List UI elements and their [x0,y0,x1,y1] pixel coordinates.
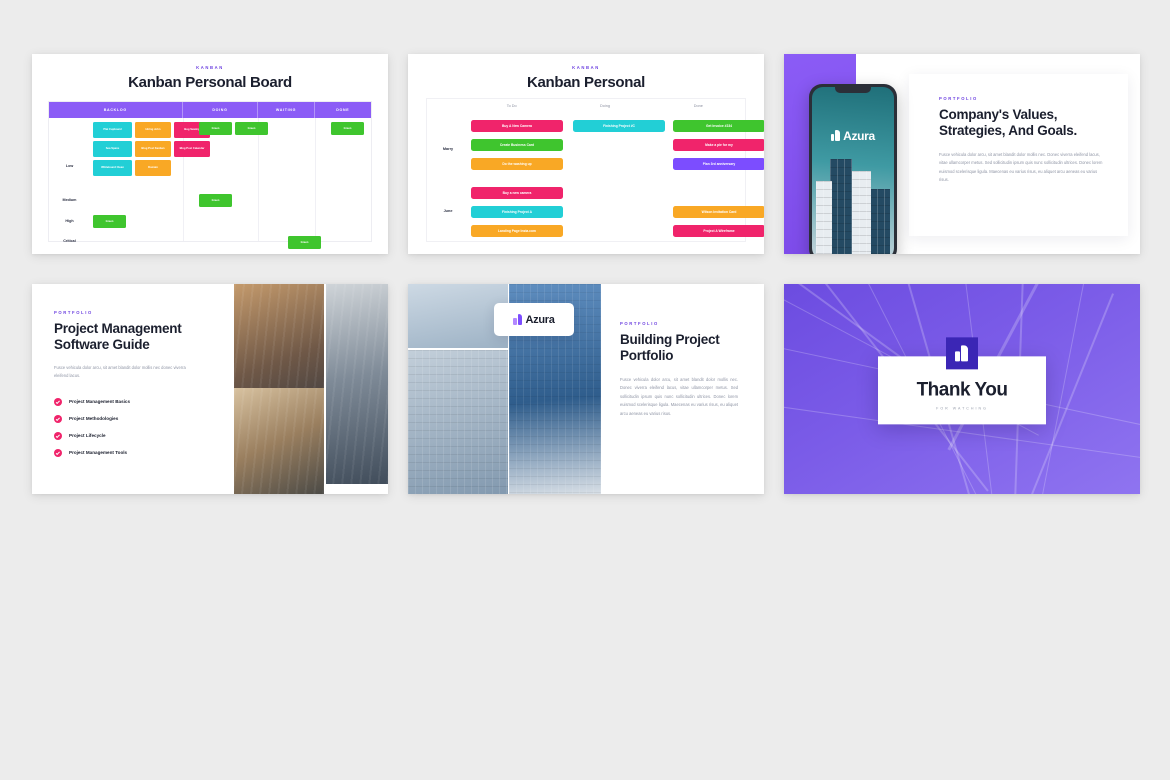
slide2-header: KANBAN Kanban Personal [408,54,764,91]
slide-company-values[interactable]: PORTFOLIO Company's Values, Strategies, … [784,54,1140,254]
list-item[interactable]: Project Management Basics [54,398,232,406]
row-label-marry: Marry [431,147,465,151]
slide4-body: Fusce vehicula dolor arcu, sit amet blan… [54,364,186,381]
column-divider [258,118,259,241]
azura-logo-icon [513,314,522,325]
kanban2-column-headers: To Do Doing Done [427,99,745,111]
kanban-card[interactable]: Make a pie for my [673,139,764,151]
kanban-card[interactable]: Finishing Project #C [573,120,665,132]
kanban-card[interactable]: Green [199,122,232,135]
list-item[interactable]: Project Methodologies [54,415,232,423]
list-item[interactable]: Project Lifecycle [54,432,232,440]
content-card: PORTFOLIO Company's Values, Strategies, … [909,74,1128,236]
azura-logo: Azura [812,129,894,143]
kanban-card[interactable]: Blog Post Calendar [174,141,210,157]
feature-list: Project Management Basics Project Method… [54,398,232,457]
phone-notch [835,87,871,93]
slide3-body: Fusce vehicula dolor arcu, sit amet blan… [939,151,1106,185]
building-shape [830,159,852,254]
slide5-body: Fusce vehicula dolor arcu, sit amet blan… [620,376,738,418]
kanban-board-body: Low Medium High Critical Plat Cupboard H… [49,118,371,241]
kanban-card[interactable]: Whiteboard Clean [93,160,132,176]
kanban-card[interactable]: Blog Post Kanban [135,141,171,157]
list-item-label: Project Lifecycle [69,433,106,438]
sky-photo [408,284,508,348]
kanban-card[interactable]: Finishing Project A [471,206,563,218]
kanban-card[interactable]: Green [235,122,268,135]
slide3-title: Company's Values, Strategies, And Goals. [939,107,1089,140]
check-circle-icon [54,432,62,440]
column-divider [315,118,316,241]
kanban-column-headers: BACKLOG DOING WAITING DONE [49,102,371,118]
thank-you-subtitle: FOR WATCHING [936,406,988,410]
kanban-board: BACKLOG DOING WAITING DONE Low Medium Hi… [48,101,372,242]
slide4-eyebrow: PORTFOLIO [54,310,232,315]
azura-logo-icon [955,345,969,361]
slide-building-portfolio[interactable]: Azura PORTFOLIO Building Project Portfol… [408,284,764,494]
check-circle-icon [54,449,62,457]
column-header-done: Done [652,104,745,108]
kanban-card[interactable]: Green [93,215,126,228]
row-label-high: High [49,219,90,223]
kanban-card[interactable]: Create Business Card [471,139,563,151]
slide-pm-software-guide[interactable]: PORTFOLIO Project Management Software Gu… [32,284,388,494]
kanban-card[interactable]: Project A Wireframe [673,225,764,237]
slide1-eyebrow: KANBAN [32,65,388,70]
kanban-card[interactable]: Plat Cupboard [93,122,132,138]
slide5-text-column: PORTFOLIO Building Project Portfolio Fus… [620,321,746,418]
row-label-medium: Medium [49,198,90,202]
list-item[interactable]: Project Management Tools [54,449,232,457]
column-header-backlog: BACKLOG [49,102,183,118]
check-circle-icon [54,415,62,423]
desk-photo-bottom [234,388,324,494]
phone-mockup: Azura [809,84,897,254]
slide3-eyebrow: PORTFOLIO [939,96,1106,101]
kanban-card[interactable]: Get Invoice #234 [673,120,764,132]
slide4-text-column: PORTFOLIO Project Management Software Gu… [32,284,232,494]
kanban-card[interactable]: Green [288,236,321,249]
column-header-doing: Doing [558,104,651,108]
kanban-card[interactable]: Plan 3rd anniversary [673,158,764,170]
row-label-low: Low [49,164,90,168]
column-header-waiting: WAITING [258,102,314,118]
kanban-card[interactable]: Do the washing up [471,158,563,170]
building-photo-left [408,350,508,494]
building-shape [870,189,890,254]
kanban-card[interactable]: Hiring John [135,122,171,138]
kanban-card[interactable]: Landing Page Insta.com [471,225,563,237]
azura-logo-text: Azura [525,314,554,326]
column-header-todo: To Do [465,104,558,108]
slide-thank-you[interactable]: Thank You FOR WATCHING [784,284,1140,494]
thank-you-title: Thank You [917,379,1008,401]
kanban-card[interactable]: Sea Spans [93,141,132,157]
kanban-card[interactable]: Domain [135,160,171,176]
office-photo-right [326,284,388,484]
list-item-label: Project Management Basics [69,399,130,404]
kanban-card[interactable]: Green [331,122,364,135]
row-label-critical: Critical [49,239,90,243]
slide5-eyebrow: PORTFOLIO [620,321,746,326]
slide-kanban-personal-board[interactable]: KANBAN Kanban Personal Board BACKLOG DOI… [32,54,388,254]
kanban-card[interactable]: Buy a new camera [471,187,563,199]
phone-screen: Azura [812,87,894,254]
list-item-label: Project Methodologies [69,416,118,421]
kanban-card[interactable]: Green [199,194,232,207]
thank-you-card: Thank You FOR WATCHING [878,356,1046,424]
list-item-label: Project Management Tools [69,450,127,455]
slide2-title: Kanban Personal [408,74,764,91]
slide4-title: Project Management Software Guide [54,321,214,354]
kanban-personal-board: To Do Doing Done Marry June Buy A New Ca… [426,98,746,242]
building-shape [816,181,832,254]
column-header-doing: DOING [183,102,259,118]
azura-logo-chip: Azura [494,303,574,336]
kanban-card[interactable]: Buy A New Camera [471,120,563,132]
azura-logo-icon [831,130,840,141]
slide1-title: Kanban Personal Board [32,74,388,91]
slide-kanban-personal[interactable]: KANBAN Kanban Personal To Do Doing Done … [408,54,764,254]
kanban-card[interactable]: Wilson Invitation Card [673,206,764,218]
brand-logo-badge [946,337,978,369]
row-label-june: June [431,209,465,213]
slide5-title: Building Project Portfolio [620,332,740,365]
slide1-header: KANBAN Kanban Personal Board [32,54,388,91]
column-header-done: DONE [315,102,371,118]
azura-logo-text: Azura [843,129,875,143]
slide-grid: KANBAN Kanban Personal Board BACKLOG DOI… [32,54,1138,494]
slide2-eyebrow: KANBAN [408,65,764,70]
check-circle-icon [54,398,62,406]
building-shape [852,171,871,254]
